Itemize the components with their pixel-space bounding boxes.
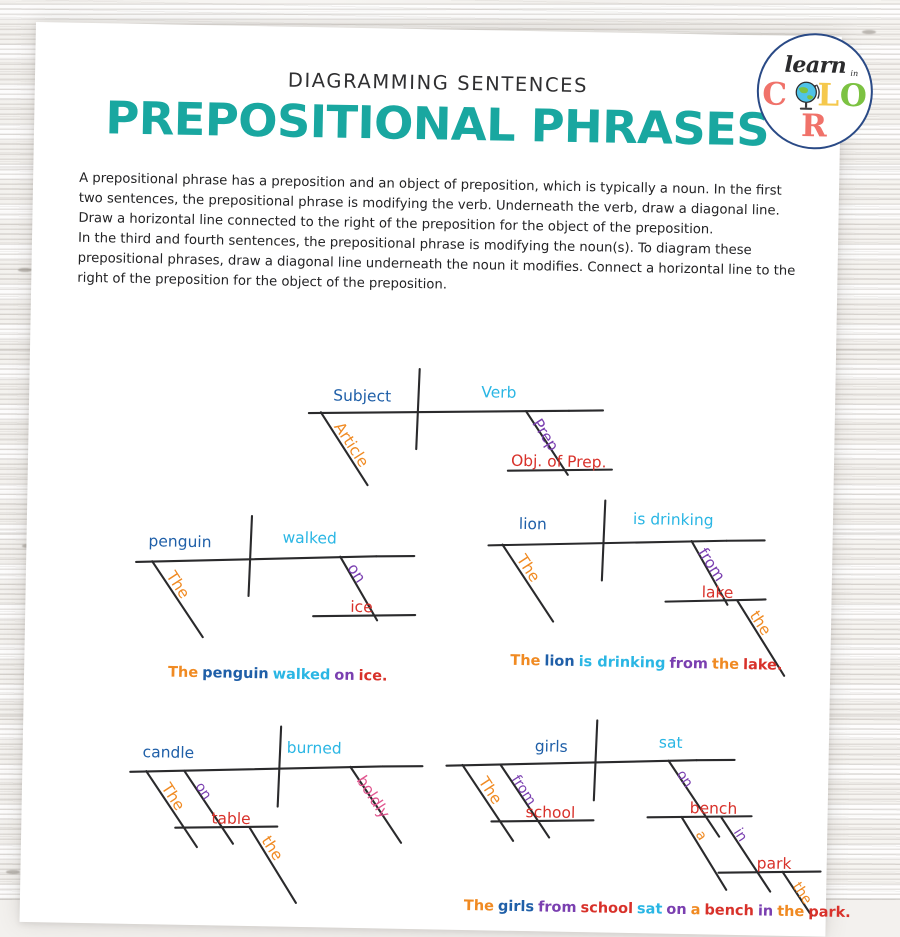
caption-word: penguin bbox=[202, 665, 269, 682]
worksheet-page: DIAGRAMMING SENTENCES PREPOSITIONAL PHRA… bbox=[20, 22, 842, 937]
caption-word: in bbox=[758, 903, 774, 919]
label-article: The bbox=[157, 779, 188, 814]
label-subject: Subject bbox=[333, 387, 391, 406]
caption-word: on bbox=[666, 902, 687, 918]
wood-knot bbox=[862, 30, 876, 34]
label-verb: burned bbox=[287, 739, 342, 758]
label-prep: on bbox=[192, 780, 215, 803]
caption-word: park. bbox=[808, 904, 851, 921]
label-subject: candle bbox=[142, 743, 194, 762]
caption-word: the bbox=[712, 656, 739, 672]
label-prep-3: in bbox=[730, 825, 750, 844]
label-subject: girls bbox=[535, 737, 568, 756]
caption-word: lake. bbox=[743, 657, 783, 674]
label-article: Article bbox=[330, 419, 372, 471]
label-obj-2: bench bbox=[690, 799, 738, 818]
globe-icon bbox=[790, 79, 825, 114]
label-subject: penguin bbox=[148, 532, 211, 551]
label-prep: Prep bbox=[528, 416, 562, 455]
diagram-lion: lion is drinking The from lake the bbox=[486, 498, 787, 675]
diagram-candle: candle burned The on table the boldly bbox=[128, 724, 423, 905]
caption-word: a bbox=[691, 902, 701, 918]
label-subject: lion bbox=[519, 515, 547, 534]
label-prep: on bbox=[344, 560, 370, 586]
caption-word: lion bbox=[544, 653, 575, 670]
label-verb: is drinking bbox=[633, 510, 714, 529]
diagram-canvas: Subject Verb Article Prep Obj. of Prep. … bbox=[20, 22, 842, 917]
label-prep: from bbox=[694, 545, 729, 585]
label-obj-of-prep: Obj. of Prep. bbox=[511, 452, 607, 472]
logo-letter-r: R bbox=[801, 111, 828, 142]
label-obj2-article: a bbox=[692, 828, 710, 844]
caption-word: girls bbox=[498, 899, 534, 916]
logo-letter-o: O bbox=[839, 81, 867, 112]
caption-word: sat bbox=[637, 901, 663, 917]
label-obj-1: school bbox=[525, 803, 575, 822]
caption-word: on bbox=[334, 668, 355, 684]
wood-knot bbox=[18, 268, 32, 272]
label-obj: lake bbox=[701, 583, 733, 602]
label-obj-article: the bbox=[746, 608, 775, 639]
caption-word: from bbox=[669, 656, 708, 673]
logo-in-text: in bbox=[850, 69, 858, 78]
logo-letter-c: C bbox=[762, 79, 788, 110]
caption-word: school bbox=[580, 900, 633, 917]
caption-word: from bbox=[538, 899, 577, 916]
caption-word: bench bbox=[704, 902, 754, 919]
label-verb: walked bbox=[282, 529, 337, 548]
label-adverb: boldly bbox=[353, 772, 394, 821]
label-obj-article: the bbox=[258, 833, 287, 864]
diagram-girls: girls sat The from school on bench a in … bbox=[443, 718, 829, 917]
label-verb: sat bbox=[659, 734, 683, 752]
caption-word: The bbox=[464, 898, 494, 915]
label-obj: table bbox=[211, 809, 251, 828]
label-obj: ice bbox=[350, 598, 373, 616]
caption-word: is drinking bbox=[579, 654, 666, 672]
label-obj-3: park bbox=[757, 854, 792, 873]
caption-word: The bbox=[168, 665, 198, 682]
label-verb: Verb bbox=[481, 383, 516, 402]
caption-word: ice. bbox=[358, 668, 387, 685]
diagram-penguin: penguin walked The on ice bbox=[135, 514, 417, 641]
wood-knot bbox=[6, 870, 20, 874]
brand-logo: learn in CLOR bbox=[756, 32, 874, 150]
caption-word: The bbox=[510, 653, 540, 670]
caption-word: walked bbox=[273, 666, 331, 683]
diagram-template: Subject Verb Article Prep Obj. of Prep. bbox=[308, 367, 614, 490]
caption-word: the bbox=[777, 904, 804, 920]
